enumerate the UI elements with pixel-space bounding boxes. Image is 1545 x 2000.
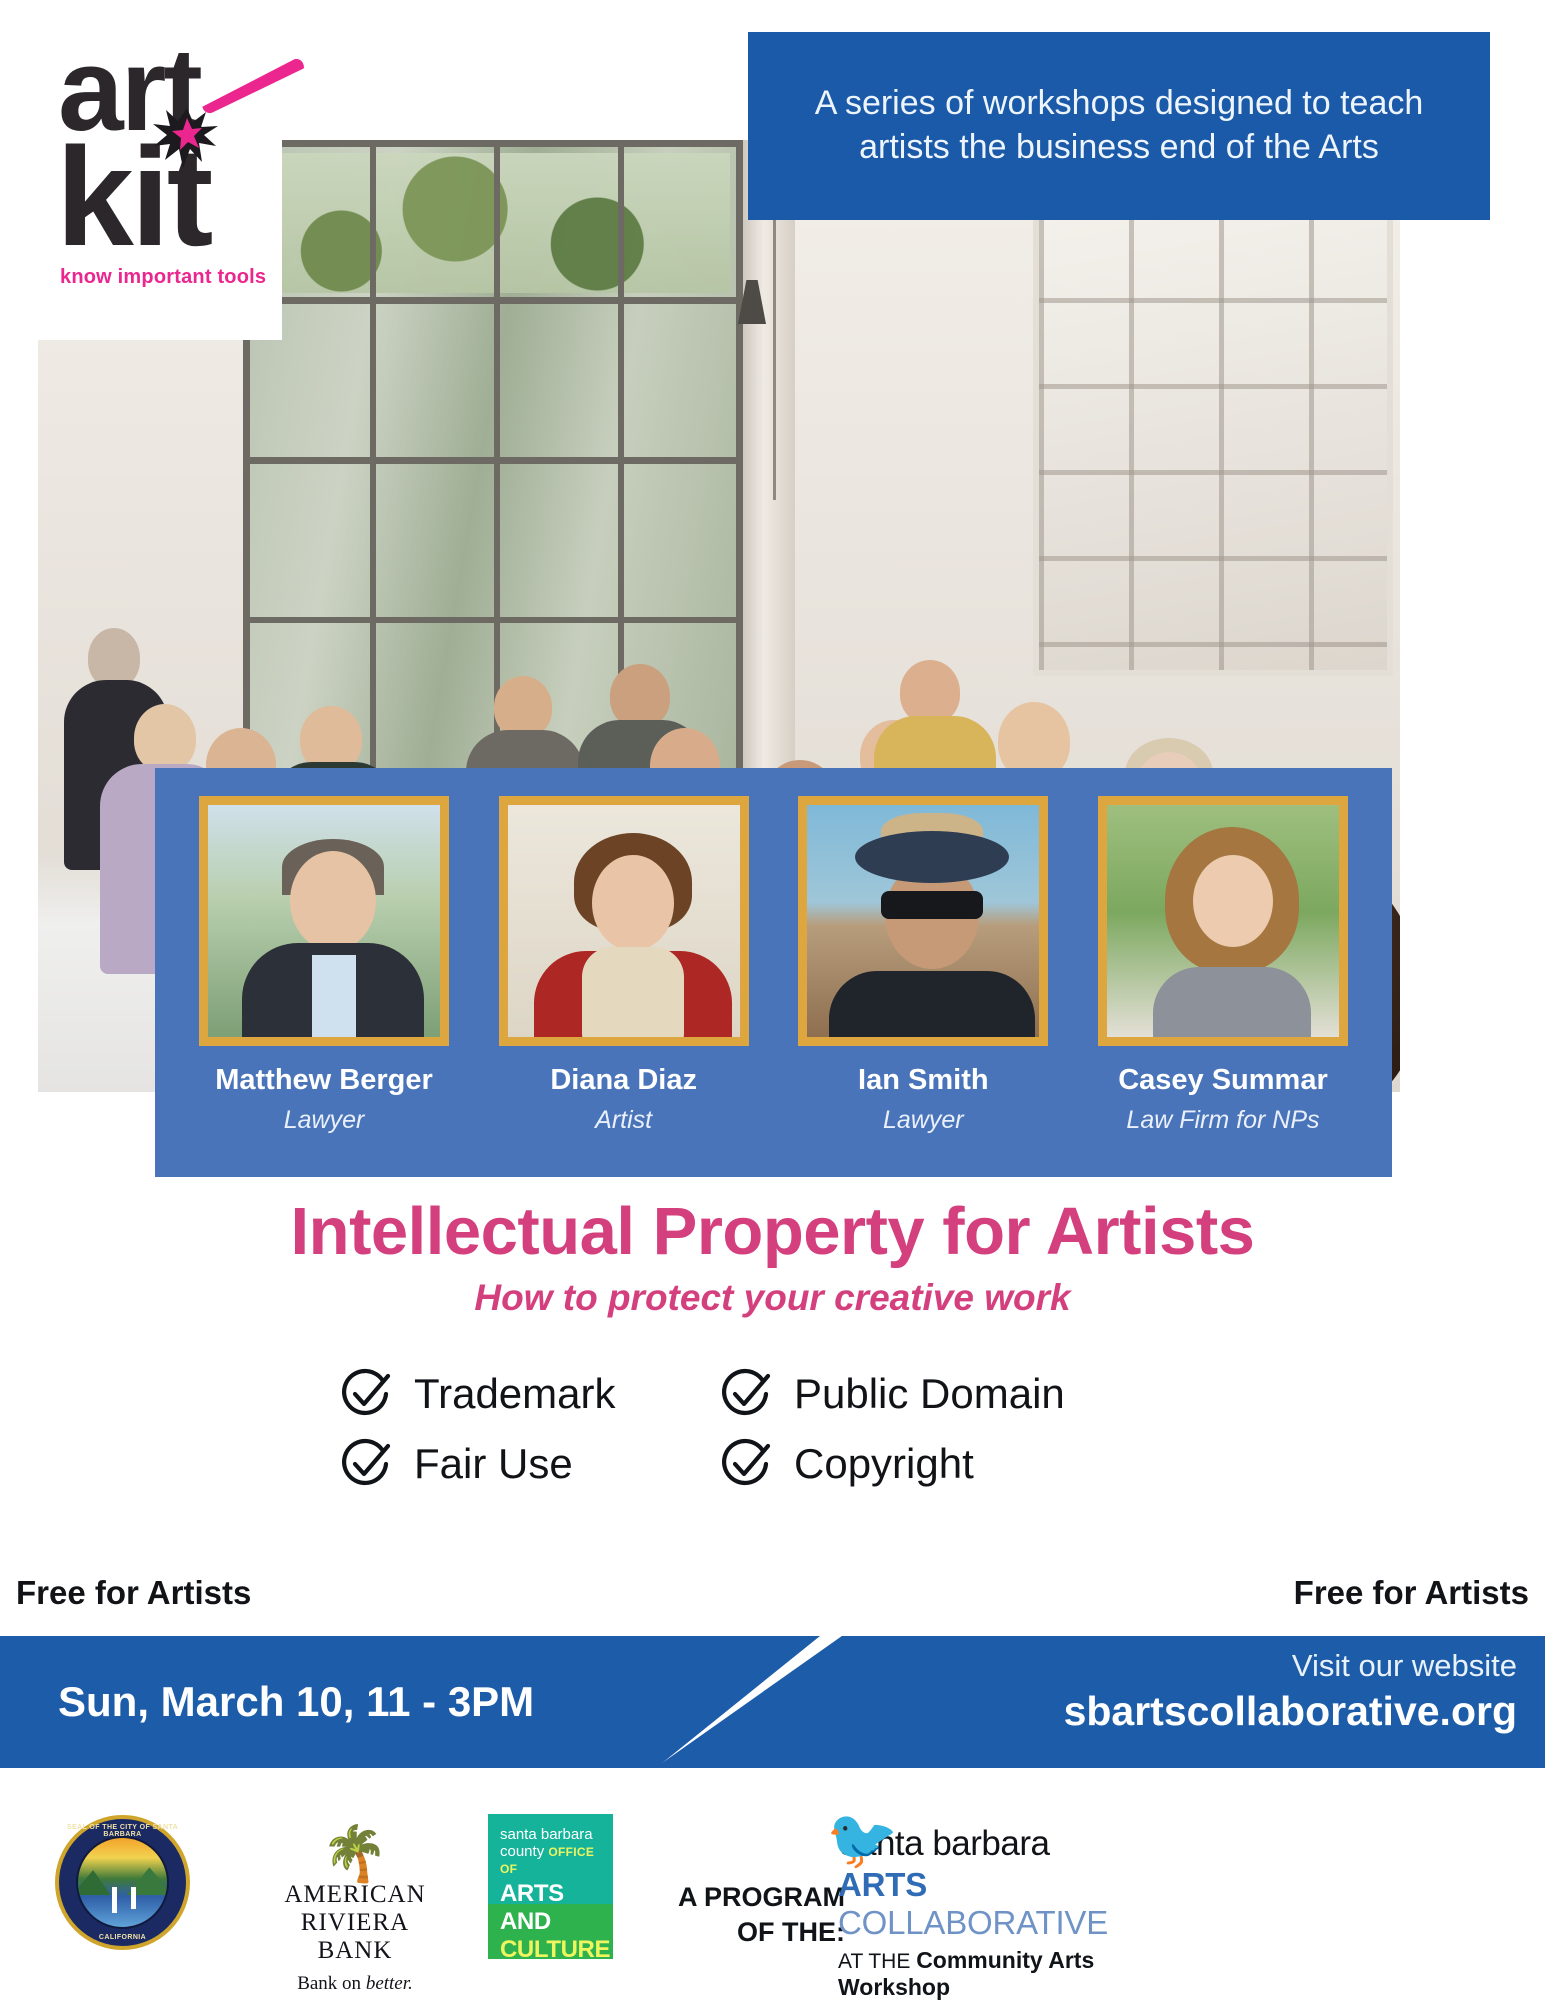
american-riviera-bank-logo: 🌴 AMERICAN RIVIERA BANK Bank on better. [230,1830,480,1995]
speaker-portrait [1107,805,1339,1037]
price-label-left: Free for Artists [16,1574,251,1612]
check-circle-icon [340,1438,392,1490]
attendee-head [88,628,140,688]
speaker-card: Diana Diaz Artist [485,796,763,1135]
speaker-card: Casey Summar Law Firm for NPs [1084,796,1362,1135]
palm-tree-icon: 🌴 [230,1830,480,1879]
topic-label: Public Domain [794,1370,1065,1418]
speaker-portrait [208,805,440,1037]
speaker-card: Matthew Berger Lawyer [185,796,463,1135]
poster-subtitle: How to protect your creative work [0,1277,1545,1319]
city-seal-artwork [76,1836,169,1929]
arts-culture-line2: county OFFICE OF [500,1843,603,1877]
crow-bird-icon: 🐦 [826,1806,898,1874]
topic-item: Copyright [720,1438,1220,1490]
logo-tagline: know important tools [60,266,266,289]
speaker-name: Matthew Berger [185,1064,463,1097]
attendee-head [134,704,196,772]
poster-canvas: art kit know important tools A series of… [0,0,1545,2000]
arts-culture-line4: CULTURE [500,1936,603,1964]
event-date-text: Sun, March 10, 11 - 3PM [58,1678,534,1726]
speaker-role: Lawyer [185,1106,463,1135]
speakers-panel: Matthew Berger Lawyer Diana Diaz Artist … [155,768,1392,1177]
sb-arts-collaborative-logo: 🐦 santa barbara ARTS COLLABORATIVE AT TH… [838,1824,1178,2000]
price-label-right: Free for Artists [1294,1574,1529,1612]
header-description-box: A series of workshops designed to teach … [748,32,1490,220]
city-seal-top-text: SEAL OF THE CITY OF SANTA BARBARA [59,1824,186,1838]
speaker-photo-frame [499,796,749,1046]
speaker-name: Diana Diaz [485,1064,763,1097]
art-kit-logo: art kit know important tools [30,20,282,340]
check-circle-icon [340,1368,392,1420]
program-of-label: A PROGRAM OF THE: [655,1880,845,1950]
topic-label: Copyright [794,1440,974,1488]
topic-item: Trademark [340,1368,720,1420]
paint-streak-icon [200,56,307,115]
topic-label: Fair Use [414,1440,573,1488]
program-line2: OF THE: [655,1915,845,1950]
speaker-role: Law Firm for NPs [1084,1106,1362,1135]
speaker-portrait [508,805,740,1037]
bank-name-line2: BANK [230,1937,480,1965]
arts-culture-line3: ARTS AND [500,1880,603,1936]
speaker-role: Artist [485,1106,763,1135]
bank-tagline: Bank on better. [230,1973,480,1995]
speaker-photo-frame [199,796,449,1046]
city-seal-bottom-text: CALIFORNIA [59,1934,186,1941]
topic-item: Fair Use [340,1438,720,1490]
speaker-name: Casey Summar [1084,1064,1362,1097]
arts-culture-line1: santa barbara [500,1826,603,1843]
attendee-head [494,676,552,738]
speaker-photo-frame [798,796,1048,1046]
topic-item: Public Domain [720,1368,1220,1420]
speaker-role: Lawyer [784,1106,1062,1135]
window-trees [256,153,730,293]
program-line1: A PROGRAM [655,1880,845,1915]
check-circle-icon [720,1438,772,1490]
topics-checklist: Trademark Public Domain Fair Use Copyrig… [340,1368,1220,1490]
poster-title: Intellectual Property for Artists [0,1193,1545,1270]
speaker-portrait [807,805,1039,1037]
check-circle-icon [720,1368,772,1420]
speaker-card: Ian Smith Lawyer [784,796,1062,1135]
bank-name-line1: AMERICAN RIVIERA [230,1881,480,1937]
sb-county-arts-culture-logo: santa barbara county OFFICE OF ARTS AND … [488,1814,613,1959]
collaborative-line2: ARTS COLLABORATIVE [838,1866,1178,1942]
website-url[interactable]: sbartscollaborative.org [655,1688,1517,1735]
attendee-head [900,660,960,724]
header-description-text: A series of workshops designed to teach … [782,82,1456,169]
topic-label: Trademark [414,1370,616,1418]
speaker-name: Ian Smith [784,1064,1062,1097]
speaker-photo-frame [1098,796,1348,1046]
attendee-head [610,664,670,728]
collaborative-venue: AT THE Community Arts Workshop [838,1947,1178,2000]
city-seal-icon: SEAL OF THE CITY OF SANTA BARBARA CALIFO… [55,1815,190,1950]
